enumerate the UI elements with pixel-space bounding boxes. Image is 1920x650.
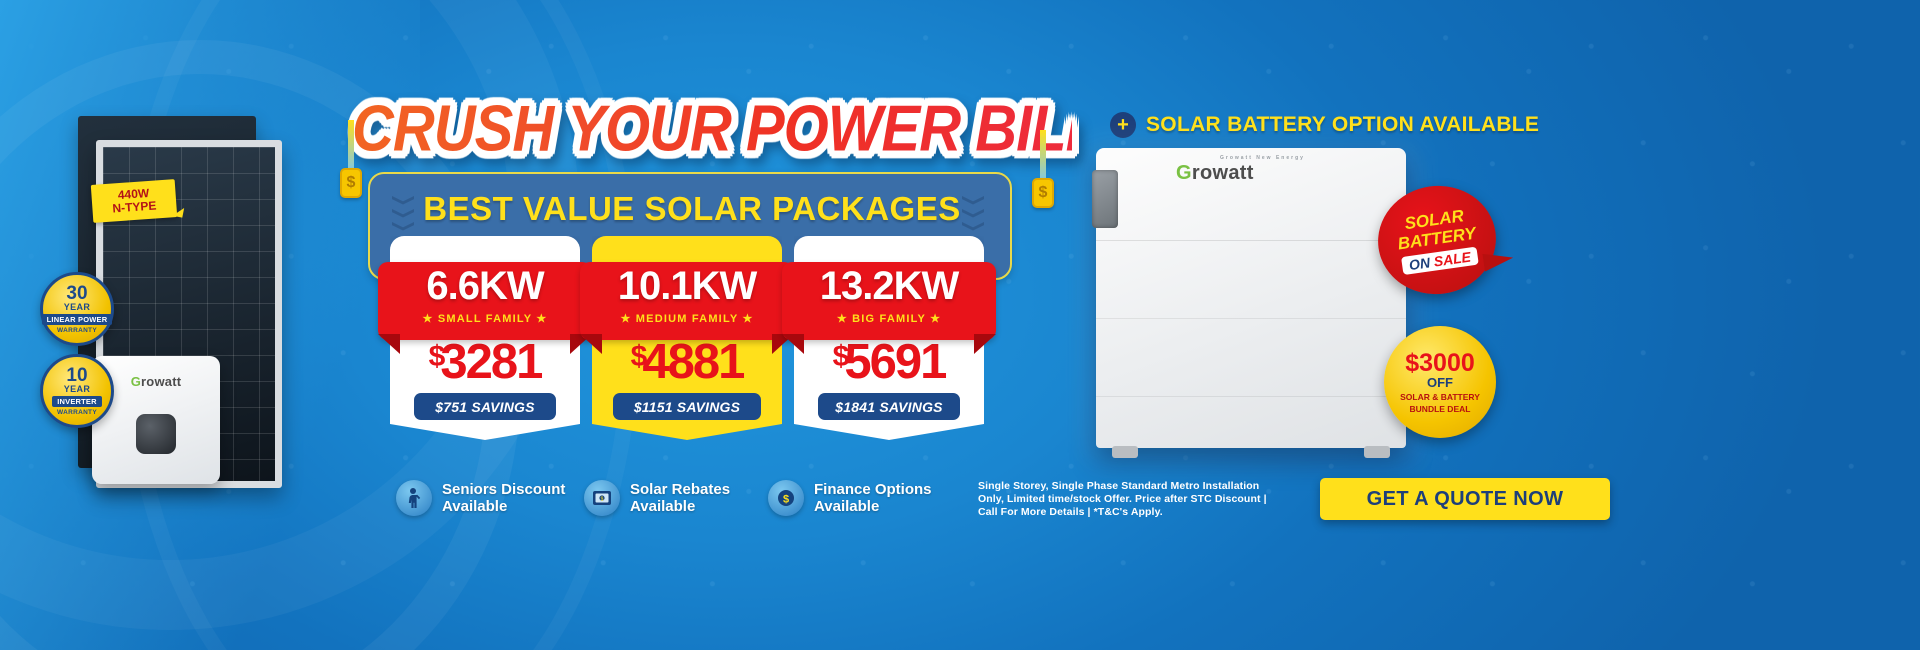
- discount-off-label: OFF: [1427, 376, 1453, 390]
- battery-module-line: [1096, 318, 1406, 319]
- feature-finance-options: $ Finance Options Available: [768, 480, 932, 516]
- feature-line2: Available: [814, 498, 932, 515]
- battery-foot-right: [1364, 446, 1390, 458]
- package-ribbon: 10.1KW ★ MEDIUM FAMILY ★: [580, 262, 794, 340]
- battery-module-line: [1096, 396, 1406, 397]
- coin-stem-right: [1040, 130, 1046, 182]
- on-sale-on: ON: [1408, 254, 1435, 273]
- package-savings-badge: $1841 SAVINGS: [818, 393, 960, 420]
- feature-line2: Available: [630, 498, 730, 515]
- svg-text:$: $: [783, 494, 789, 506]
- battery-seam: [1096, 240, 1406, 241]
- package-savings-badge: $1151 SAVINGS: [613, 393, 761, 420]
- feature-solar-rebates: $ Solar Rebates Available: [584, 480, 730, 516]
- get-a-quote-button[interactable]: GET A QUOTE NOW: [1320, 478, 1610, 520]
- plus-icon: +: [1110, 112, 1136, 138]
- feature-text: Seniors Discount Available: [442, 481, 565, 515]
- feature-line1: Solar Rebates: [630, 481, 730, 498]
- bundle-discount-badge: $3000 OFF SOLAR & BATTERY BUNDLE DEAL: [1384, 326, 1496, 438]
- panel-wattage-type: N-TYPE: [112, 199, 157, 215]
- discount-sub-line1: SOLAR & BATTERY: [1400, 392, 1480, 402]
- seal-year-word: YEAR: [64, 302, 91, 312]
- battery-brand-g: G: [1176, 162, 1192, 184]
- package-family: ★ BIG FAMILY ★: [782, 312, 996, 325]
- price-value: 3281: [440, 335, 541, 389]
- inverter-brand-rest: rowatt: [141, 374, 181, 389]
- package-card-2[interactable]: 10.1KW ★ MEDIUM FAMILY ★ WAS $6032 $4881…: [592, 236, 782, 440]
- package-ribbon: 13.2KW ★ BIG FAMILY ★: [782, 262, 996, 340]
- seal-line1: INVERTER: [52, 396, 102, 407]
- coin-icon-left: $: [340, 168, 362, 198]
- battery-unit: Growatt New EnergyGrowatt: [1096, 148, 1406, 448]
- inverter-brand-g: G: [131, 374, 141, 389]
- rebate-document-glyph: $: [591, 488, 613, 508]
- battery-brand-rest: rowatt: [1192, 162, 1254, 184]
- packages-panel-title: BEST VALUE SOLAR PACKAGES: [370, 190, 1014, 228]
- coin-stem-left: [348, 120, 354, 172]
- package-card-1[interactable]: 6.6KW ★ SMALL FAMILY ★ WAS $4032 $3281 $…: [390, 236, 580, 440]
- seal-line2: WARRANTY: [57, 327, 97, 334]
- finance-money-icon: $: [768, 480, 804, 516]
- headline: CRUSH YOUR POWER BILLS!: [352, 94, 1072, 163]
- rebate-document-icon: $: [584, 480, 620, 516]
- on-sale-sale: SALE: [1433, 249, 1472, 270]
- package-family: ★ SMALL FAMILY ★: [378, 312, 592, 325]
- feature-line2: Available: [442, 498, 565, 515]
- seal-years: 10: [66, 367, 87, 384]
- inverter-display-icon: [136, 414, 176, 454]
- price-value: 4881: [642, 335, 743, 389]
- package-kw: 10.1KW: [580, 264, 794, 309]
- feature-text: Finance Options Available: [814, 481, 932, 515]
- discount-sub-line2: BUNDLE DEAL: [1410, 404, 1471, 414]
- warranty-seal-inverter: 10 YEAR INVERTER WARRANTY: [40, 354, 114, 428]
- finance-money-glyph: $: [776, 488, 796, 508]
- coin-icon-right: $: [1032, 178, 1054, 208]
- discount-amount: $3000: [1405, 351, 1475, 376]
- feature-text: Solar Rebates Available: [630, 481, 730, 515]
- package-family: ★ MEDIUM FAMILY ★: [580, 312, 794, 325]
- battery-option-text: SOLAR BATTERY OPTION AVAILABLE: [1146, 113, 1539, 137]
- seal-year-word: YEAR: [64, 384, 91, 394]
- package-kw: 13.2KW: [782, 264, 996, 309]
- panel-wattage-tag: 440W N-TYPE: [91, 179, 177, 223]
- inverter-unit: Growatt: [92, 356, 220, 484]
- svg-text:$: $: [601, 496, 604, 502]
- package-ribbon: 6.6KW ★ SMALL FAMILY ★: [378, 262, 592, 340]
- package-card-3[interactable]: 13.2KW ★ BIG FAMILY ★ WAS $7532 $5691 $1…: [794, 236, 984, 440]
- warranty-seal-linear-power: 30 YEAR LINEAR POWER WARRANTY: [40, 272, 114, 346]
- senior-person-icon: [396, 480, 432, 516]
- fine-print: Single Storey, Single Phase Standard Met…: [978, 480, 1278, 519]
- price-value: 5691: [844, 335, 945, 389]
- seal-line2: WARRANTY: [57, 409, 97, 416]
- battery-port-icon: [1092, 170, 1118, 228]
- badge-tail: [1482, 250, 1514, 272]
- senior-person-glyph: [404, 487, 424, 509]
- seal-years: 30: [66, 285, 87, 302]
- battery-brand-tagline: Growatt New Energy: [1220, 155, 1305, 161]
- feature-line1: Seniors Discount: [442, 481, 565, 498]
- package-kw: 6.6KW: [378, 264, 592, 309]
- feature-seniors-discount: Seniors Discount Available: [396, 480, 565, 516]
- battery-foot-left: [1112, 446, 1138, 458]
- battery-brand-logo: Growatt New EnergyGrowatt: [1176, 162, 1254, 185]
- seal-line1: LINEAR POWER: [42, 314, 113, 325]
- feature-line1: Finance Options: [814, 481, 932, 498]
- battery-option-line: + SOLAR BATTERY OPTION AVAILABLE: [1110, 112, 1539, 138]
- package-savings-badge: $751 SAVINGS: [414, 393, 556, 420]
